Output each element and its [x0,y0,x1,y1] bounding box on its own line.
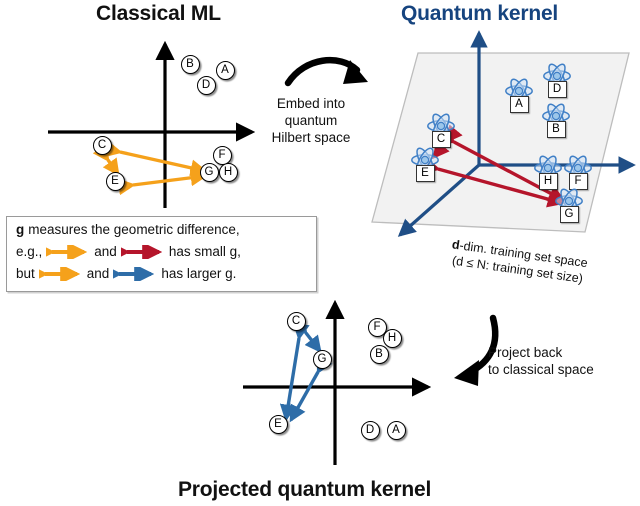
page-title-classical: Classical ML [96,2,221,26]
legend-arrow-orange-1 [46,245,90,259]
data-point-f: F [213,146,232,165]
data-point-e: E [269,415,288,434]
data-point-d: D [197,76,216,95]
quantum-label-d: D [548,81,567,98]
embed-line-2: quantum [256,112,366,129]
legend-line-1: g measures the geometric difference, [16,222,240,237]
project-line-1: Project back [488,344,638,361]
legend-line-3: but and has larger g. [16,266,236,281]
data-point-d: D [361,421,380,440]
embed-flow-label: Embed into quantum Hilbert space [256,95,366,146]
legend-arrow-blue [113,267,157,281]
legend-line-2-pre: e.g., [16,244,42,259]
page-title-quantum: Quantum kernel [401,2,558,26]
projected-axes [243,303,428,465]
legend-arrow-red [121,245,165,259]
arrow-E-G-orange [133,176,205,185]
data-point-b: B [181,55,200,74]
data-point-h: H [219,163,238,182]
data-point-c: C [93,136,112,155]
data-point-h: H [383,329,402,348]
quantum-label-e: E [416,165,435,182]
data-point-g: G [200,163,219,182]
quantum-label-g: G [560,206,579,223]
legend-line-3-pre: but [16,266,35,281]
legend-box: g measures the geometric difference, e.g… [6,216,317,292]
embed-flow-arrow [288,60,368,84]
embed-line-3: Hilbert space [256,129,366,146]
legend-line-3-post: has larger g. [161,266,236,281]
data-point-c: C [287,312,306,331]
legend-line-3-mid: and [87,266,110,281]
data-point-b: B [370,345,389,364]
quantum-label-a: A [510,96,529,113]
data-point-a: A [216,61,235,80]
arrow-C-G-blue [306,333,320,351]
page-title-projected: Projected quantum kernel [178,478,431,502]
arrow-G-E-blue [291,372,318,420]
arrow-C-G-orange [120,152,205,171]
legend-line-1-text: measures the geometric difference, [28,222,239,237]
projected-arrows [286,333,320,420]
project-line-2: to classical space [488,361,638,378]
quantum-label-b: B [547,121,566,138]
quantum-plane [372,53,629,232]
legend-arrow-orange-2 [39,267,83,281]
legend-line-2-post: has small g, [169,244,241,259]
legend-line-2: e.g., and has small g, [16,244,241,259]
data-point-g: G [313,350,332,369]
data-point-e: E [106,172,125,191]
legend-g-symbol: g [16,222,24,237]
project-flow-label: Project back to classical space [488,344,638,378]
data-point-a: A [387,421,406,440]
embed-line-1: Embed into [256,95,366,112]
legend-line-2-mid: and [94,244,117,259]
figure-canvas: Classical ML Quantum kernel Projected qu… [0,0,640,506]
